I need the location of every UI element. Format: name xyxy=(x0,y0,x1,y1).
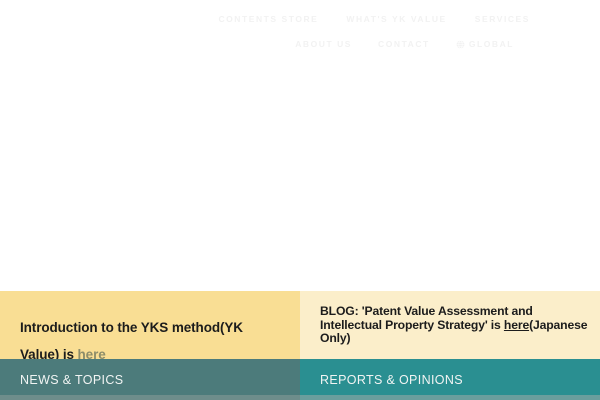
primary-navigation: CONTENTS STORE WHAT'S YK VALUE SERVICES xyxy=(0,13,600,25)
footer-hairline xyxy=(0,395,600,400)
feature-panels: Introduction to the YKS method(YK Value)… xyxy=(0,291,600,400)
globe-icon xyxy=(456,40,465,49)
section-bar-news-topics[interactable]: NEWS & TOPICS xyxy=(0,359,300,400)
reports-headline: BLOG: 'Patent Value Assessment and Intel… xyxy=(320,305,588,346)
site-header: CONTENTS STORE WHAT'S YK VALUE SERVICES … xyxy=(0,0,600,62)
page-root: CONTENTS STORE WHAT'S YK VALUE SERVICES … xyxy=(0,0,600,400)
footer-hairline-left xyxy=(0,395,300,400)
reports-headline-text: BLOG: 'Patent Value Assessment and Intel… xyxy=(320,304,533,332)
panel-reports-opinions[interactable]: BLOG: 'Patent Value Assessment and Intel… xyxy=(300,291,600,400)
section-bar-news-topics-label: NEWS & TOPICS xyxy=(20,372,123,388)
nav-item-about-us[interactable]: ABOUT US xyxy=(295,38,352,50)
nav-item-contents-store[interactable]: CONTENTS STORE xyxy=(218,13,318,25)
panel-news-topics[interactable]: Introduction to the YKS method(YK Value)… xyxy=(0,291,300,400)
nav-item-global-label: GLOBAL xyxy=(469,38,514,50)
nav-item-whats-yk-value[interactable]: WHAT'S YK VALUE xyxy=(346,13,446,25)
news-headline-text: Introduction to the YKS method(YK Value)… xyxy=(20,320,243,362)
section-bar-reports-opinions-label: REPORTS & OPINIONS xyxy=(320,372,463,388)
footer-hairline-right xyxy=(300,395,600,400)
section-bar-reports-opinions[interactable]: REPORTS & OPINIONS xyxy=(300,359,600,400)
hero-canvas xyxy=(0,62,600,291)
reports-headline-link[interactable]: here xyxy=(504,318,529,332)
secondary-navigation: ABOUT US CONTACT GLOBAL xyxy=(0,38,600,50)
nav-item-services[interactable]: SERVICES xyxy=(475,13,530,25)
nav-item-contact[interactable]: CONTACT xyxy=(378,38,430,50)
nav-item-global[interactable]: GLOBAL xyxy=(456,38,514,50)
